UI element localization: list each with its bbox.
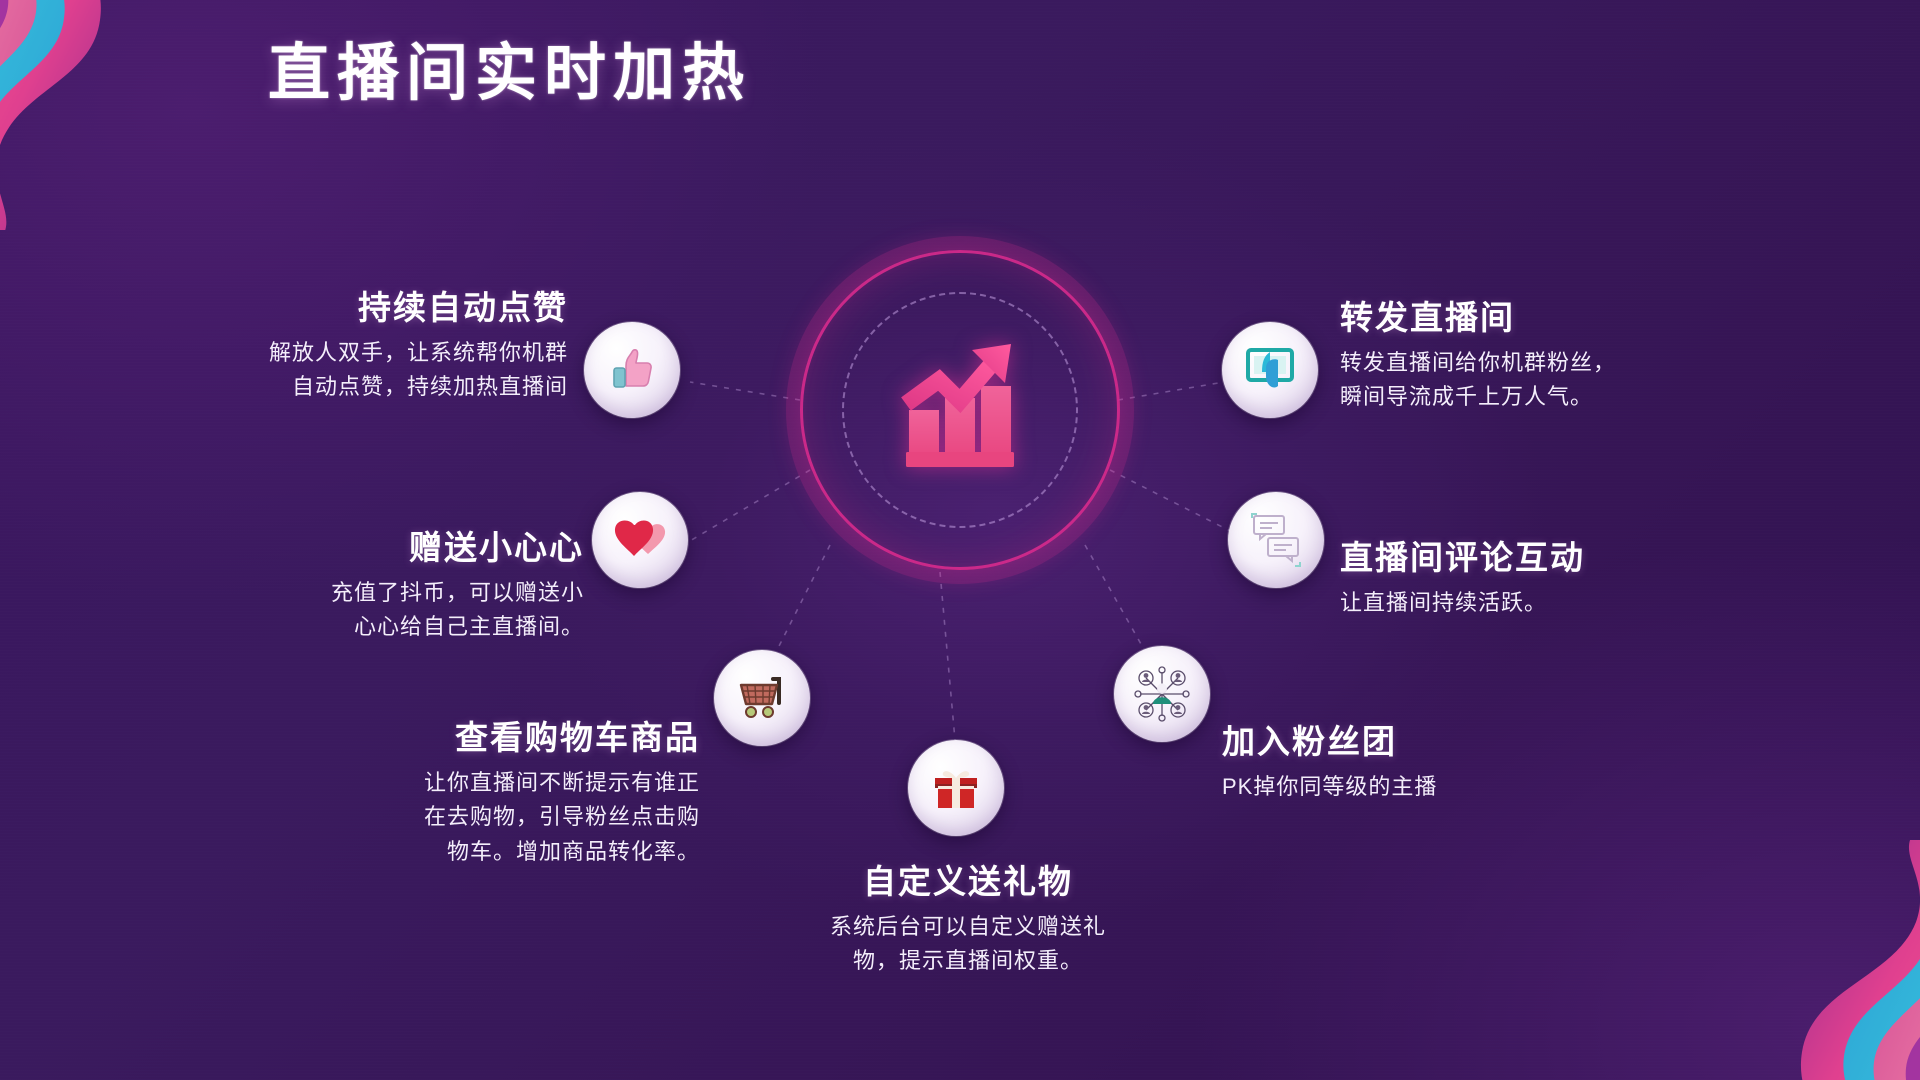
feature-desc-custom-gift: 系统后台可以自定义赠送礼 物，提示直播间权重。 [768, 910, 1168, 980]
feature-heading-auto-like: 持续自动点赞 [120, 288, 568, 328]
feature-desc-comment-interact: 让直播间持续活跃。 [1340, 586, 1780, 621]
node-view-cart[interactable] [714, 650, 810, 746]
comment-bubble-icon [1248, 512, 1304, 568]
node-share-room[interactable] [1222, 322, 1318, 418]
page-title: 直播间实时加热 [268, 38, 751, 109]
node-custom-gift[interactable] [908, 740, 1004, 836]
feature-block-join-fans: 加入粉丝团 PK掉你同等级的主播 [1222, 722, 1642, 804]
fans-network-icon [1131, 663, 1193, 725]
double-heart-icon [612, 514, 668, 566]
node-send-heart[interactable] [592, 492, 688, 588]
thumbs-up-icon [606, 344, 658, 396]
feature-desc-send-heart: 充值了抖币，可以赠送小 心心给自己主直播间。 [180, 576, 584, 646]
feature-block-auto-like: 持续自动点赞 解放人双手，让系统帮你机群 自动点赞，持续加热直播间 [120, 288, 568, 405]
feature-block-view-cart: 查看购物车商品 让你直播间不断提示有谁正 在去购物，引导粉丝点击购 物车。增加商… [230, 718, 700, 870]
feature-block-send-heart: 赠送小心心 充值了抖币，可以赠送小 心心给自己主直播间。 [180, 528, 584, 645]
gift-box-icon [930, 763, 982, 813]
growth-bar-chart-icon [878, 328, 1042, 492]
feature-heading-custom-gift: 自定义送礼物 [768, 862, 1168, 902]
feature-desc-share-room: 转发直播间给你机群粉丝， 瞬间导流成千上万人气。 [1340, 346, 1790, 416]
feature-heading-send-heart: 赠送小心心 [180, 528, 584, 568]
feature-heading-join-fans: 加入粉丝团 [1222, 722, 1642, 762]
node-comment-interact[interactable] [1228, 492, 1324, 588]
shopping-cart-icon [735, 673, 789, 723]
feature-block-share-room: 转发直播间 转发直播间给你机群粉丝， 瞬间导流成千上万人气。 [1340, 298, 1790, 415]
feature-block-custom-gift: 自定义送礼物 系统后台可以自定义赠送礼 物，提示直播间权重。 [768, 862, 1168, 979]
feature-heading-share-room: 转发直播间 [1340, 298, 1790, 338]
share-screen-icon [1244, 346, 1296, 394]
feature-block-comment-interact: 直播间评论互动 让直播间持续活跃。 [1340, 538, 1780, 620]
feature-desc-auto-like: 解放人双手，让系统帮你机群 自动点赞，持续加热直播间 [120, 336, 568, 406]
node-auto-like[interactable] [584, 322, 680, 418]
node-join-fans[interactable] [1114, 646, 1210, 742]
feature-heading-view-cart: 查看购物车商品 [230, 718, 700, 758]
central-hub [800, 250, 1120, 570]
feature-desc-view-cart: 让你直播间不断提示有谁正 在去购物，引导粉丝点击购 物车。增加商品转化率。 [230, 766, 700, 870]
feature-heading-comment-interact: 直播间评论互动 [1340, 538, 1780, 578]
feature-desc-join-fans: PK掉你同等级的主播 [1222, 770, 1642, 805]
